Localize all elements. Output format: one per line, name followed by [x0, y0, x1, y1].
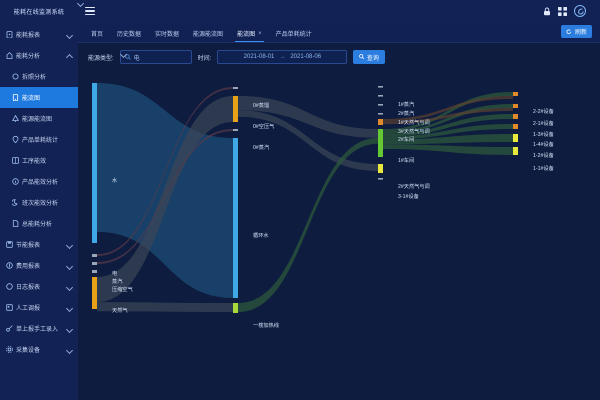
sankey-node[interactable] — [378, 113, 383, 115]
moon-icon — [12, 199, 19, 206]
tab-4[interactable]: 能流图× — [230, 29, 269, 42]
sankey-node-label: 0#蒸汽 — [253, 146, 269, 151]
sankey-node[interactable] — [92, 83, 97, 243]
sankey-node-label: 1-3#设备 — [533, 133, 554, 138]
tab-label: 实时数据 — [155, 29, 179, 38]
close-icon[interactable]: × — [258, 31, 262, 37]
tab-5[interactable]: 产品单耗统计 — [269, 29, 319, 42]
tab-0[interactable]: 首页 — [84, 29, 110, 42]
tab-label: 能流图 — [237, 29, 255, 38]
sidebar-item-0[interactable]: 能耗报表 — [0, 24, 78, 45]
sankey-node-label: 压缩空气 — [112, 288, 133, 293]
sidebar-item-5[interactable]: 产品单耗统计 — [0, 129, 78, 150]
apps-icon[interactable] — [558, 7, 567, 16]
sidebar-item-14[interactable]: 单上报手工录入 — [0, 318, 78, 339]
query-button[interactable]: 查询 — [353, 50, 385, 64]
date-end[interactable]: 2021-08-06 — [290, 54, 321, 60]
sidebar-item-2[interactable]: 拆照分析 — [0, 66, 78, 87]
sidebar-item-12[interactable]: 日志报表 — [0, 276, 78, 297]
date-separator-icon: → — [279, 54, 285, 60]
person-icon — [6, 304, 13, 311]
sidebar-item-10[interactable]: 节能报表 — [0, 234, 78, 255]
pin-icon — [12, 136, 19, 143]
sidebar-item-4[interactable]: 能源能流图 — [0, 108, 78, 129]
sankey-node-label: 1#车间 — [398, 159, 414, 164]
cost-icon — [6, 262, 13, 269]
sankey-node-label: 水 — [112, 179, 117, 184]
sidebar-item-label: 费用报表 — [16, 261, 64, 270]
sidebar-item-9[interactable]: 总能耗分析 — [0, 213, 78, 234]
sidebar-item-label: 能耗报表 — [16, 30, 64, 39]
sankey-node[interactable] — [513, 104, 518, 108]
sankey-node[interactable] — [233, 303, 238, 313]
sankey-node[interactable] — [513, 147, 518, 155]
sidebar-item-13[interactable]: 人工调报 — [0, 297, 78, 318]
tab-bar: 首页历史数据实时数据能源能流图能流图×产品单耗统计 — [78, 22, 600, 43]
app-root: 能耗在线监测系统 能耗报表能耗分析拆照分析能流图能源能流图产品单耗统计工序能效产… — [0, 0, 600, 400]
sidebar: 能耗在线监测系统 能耗报表能耗分析拆照分析能流图能源能流图产品单耗统计工序能效产… — [0, 0, 78, 400]
analysis-icon — [6, 52, 13, 59]
sidebar-item-label: 人工调报 — [16, 303, 64, 312]
sankey-node-label: 1-4#设备 — [533, 143, 554, 148]
sankey-node[interactable] — [513, 124, 518, 129]
sankey-node-label: 2-1#设备 — [533, 122, 554, 127]
query-button-label: 查询 — [367, 53, 379, 62]
chevron-down-icon[interactable] — [67, 305, 73, 311]
chevron-down-icon[interactable] — [67, 32, 73, 38]
grid-icon — [12, 157, 19, 164]
date-start[interactable]: 2021-08-01 — [244, 54, 275, 60]
report-icon — [6, 31, 13, 38]
tab-label: 能源能流图 — [193, 29, 223, 38]
sankey-node-label: 2#车间 — [398, 138, 414, 143]
sankey-node[interactable] — [378, 86, 383, 88]
sidebar-item-label: 总能耗分析 — [22, 219, 73, 228]
edit-icon — [6, 325, 13, 332]
sidebar-item-7[interactable]: 产品能效分析 — [0, 171, 78, 192]
refresh-button-label: 刷新 — [575, 27, 587, 36]
hamburger-icon[interactable] — [85, 7, 95, 16]
tree-icon — [12, 115, 19, 122]
sankey-node[interactable] — [92, 262, 97, 265]
sidebar-item-label: 日志报表 — [16, 282, 64, 291]
flow-icon — [12, 94, 19, 101]
source-select-value: 电 — [134, 53, 184, 62]
sankey-node[interactable] — [233, 96, 238, 122]
sidebar-item-3[interactable]: 能流图 — [0, 87, 78, 108]
file-icon — [12, 220, 19, 227]
chevron-down-icon[interactable] — [67, 242, 73, 248]
sidebar-item-label: 班次能效分析 — [22, 198, 73, 207]
tab-label: 历史数据 — [117, 29, 141, 38]
sidebar-item-label: 单上报手工录入 — [16, 324, 64, 333]
sidebar-item-15[interactable]: 采集设备 — [0, 339, 78, 360]
chevron-down-icon[interactable] — [67, 347, 73, 353]
sankey-node-label: 天然气 — [112, 309, 128, 314]
info-icon — [12, 178, 19, 185]
sidebar-item-label: 产品单耗统计 — [22, 135, 73, 144]
sankey-link[interactable] — [383, 144, 513, 155]
sankey-chart[interactable]: 水电蒸汽压缩空气天然气0#蒸馏0#空压气0#蒸汽循环水一楼加热线1#蒸汽2#蒸汽… — [78, 71, 600, 400]
search-icon — [359, 54, 365, 60]
sidebar-item-6[interactable]: 工序能效 — [0, 150, 78, 171]
topbar-icons — [543, 5, 593, 17]
source-label: 能源类型: — [88, 53, 114, 62]
tab-label: 首页 — [91, 29, 103, 38]
sidebar-item-8[interactable]: 班次能效分析 — [0, 192, 78, 213]
circle-icon — [12, 73, 19, 80]
sidebar-item-11[interactable]: 费用报表 — [0, 255, 78, 276]
filter-bar: 能源类型: 电 时间: 2021-08-01 → 2021-08-06 查询 — [78, 43, 600, 71]
main-area: 首页历史数据实时数据能源能流图能流图×产品单耗统计 能源类型: 电 时间: 20… — [78, 0, 600, 400]
sankey-node-label: 2#蒸汽 — [398, 112, 414, 117]
sidebar-item-label: 节能报表 — [16, 240, 64, 249]
sankey-node-label: 一楼加热线 — [253, 324, 279, 329]
sankey-node[interactable] — [233, 129, 238, 131]
sidebar-item-label: 采集设备 — [16, 345, 64, 354]
device-icon — [6, 346, 13, 353]
save-icon — [6, 241, 13, 248]
sankey-node[interactable] — [233, 87, 238, 89]
app-brand: 能耗在线监测系统 — [0, 0, 78, 22]
sankey-node-label: 0#蒸馏 — [253, 104, 269, 109]
sankey-node[interactable] — [92, 277, 97, 309]
sankey-node-label: 3-1#设备 — [398, 195, 419, 200]
sankey-node[interactable] — [92, 270, 97, 273]
sankey-node-label: 1-2#设备 — [533, 154, 554, 159]
date-range-input[interactable]: 2021-08-01 → 2021-08-06 — [217, 50, 347, 64]
sankey-node-label: 3#天然气与调 — [398, 130, 430, 135]
sidebar-item-label: 拆照分析 — [22, 72, 73, 81]
time-label: 时间: — [198, 53, 212, 62]
avatar-icon[interactable] — [574, 5, 586, 17]
tab-label: 产品单耗统计 — [276, 29, 312, 38]
source-select[interactable]: 电 — [120, 50, 192, 64]
sankey-node[interactable] — [378, 104, 383, 106]
sankey-node[interactable] — [233, 138, 238, 298]
sidebar-menu: 能耗报表能耗分析拆照分析能流图能源能流图产品单耗统计工序能效产品能效分析班次能效… — [0, 22, 78, 360]
sankey-node[interactable] — [92, 254, 97, 257]
log-icon — [6, 283, 13, 290]
tab-2[interactable]: 实时数据 — [148, 29, 186, 42]
sidebar-item-1[interactable]: 能耗分析 — [0, 45, 78, 66]
sankey-node-label: 1-1#设备 — [533, 167, 554, 172]
top-bar — [78, 0, 600, 22]
sankey-node-label: 2#天然气与调 — [398, 185, 430, 190]
sidebar-item-label: 能流图 — [22, 93, 73, 102]
sankey-node-label: 0#空压气 — [253, 125, 274, 130]
chevron-down-icon[interactable] — [67, 263, 73, 269]
sankey-node[interactable] — [513, 134, 518, 142]
refresh-icon — [566, 29, 572, 35]
chevron-up-icon[interactable] — [67, 53, 73, 59]
sidebar-item-label: 能耗分析 — [16, 51, 64, 60]
sankey-svg — [78, 71, 600, 400]
sidebar-item-label: 能源能流图 — [22, 114, 73, 123]
chevron-down-icon[interactable] — [67, 284, 73, 290]
sankey-node-label: 1#天然气与调 — [398, 121, 430, 126]
refresh-button[interactable]: 刷新 — [561, 25, 592, 38]
sankey-node-label: 电 — [112, 272, 117, 277]
tab-3[interactable]: 能源能流图 — [186, 29, 230, 42]
sankey-node[interactable] — [378, 119, 383, 125]
sidebar-item-label: 产品能效分析 — [22, 177, 73, 186]
sidebar-item-label: 工序能效 — [22, 156, 73, 165]
sankey-node-label: 循环水 — [253, 234, 269, 239]
sankey-node[interactable] — [513, 114, 518, 119]
sankey-node-label: 2-2#设备 — [533, 110, 554, 115]
tab-1[interactable]: 历史数据 — [110, 29, 148, 42]
sankey-node[interactable] — [378, 129, 383, 157]
sankey-node[interactable] — [378, 164, 383, 173]
sankey-node[interactable] — [378, 95, 383, 97]
sankey-node[interactable] — [513, 92, 518, 96]
lock-icon[interactable] — [543, 7, 551, 16]
sankey-node-label: 蒸汽 — [112, 280, 122, 285]
sankey-node[interactable] — [378, 178, 383, 180]
chevron-down-icon[interactable] — [67, 326, 73, 332]
sankey-node-label: 1#蒸汽 — [398, 103, 414, 108]
